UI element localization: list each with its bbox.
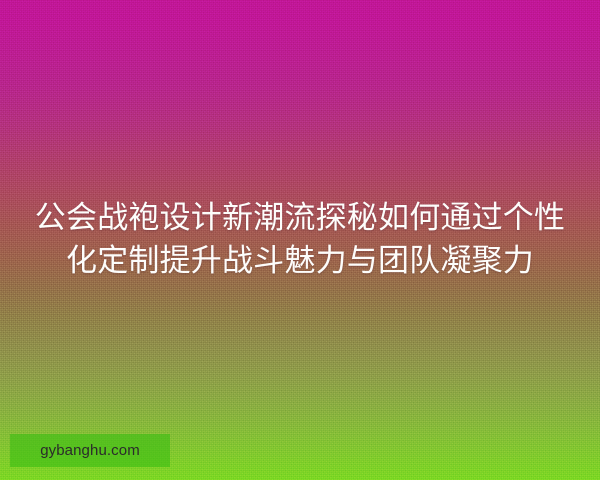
watermark-label: gybanghu.com — [40, 443, 140, 458]
headline-title: 公会战袍设计新潮流探秘如何通过个性化 定制提升战斗魅力与团队凝聚力 — [20, 197, 580, 283]
banner-image: 公会战袍设计新潮流探秘如何通过个性化 定制提升战斗魅力与团队凝聚力 gybang… — [0, 0, 600, 480]
headline-line-2: 定制提升战斗魅力与团队凝聚力 — [97, 243, 534, 279]
headline-container: 公会战袍设计新潮流探秘如何通过个性化 定制提升战斗魅力与团队凝聚力 — [0, 0, 600, 480]
watermark-badge: gybanghu.com — [10, 434, 170, 467]
